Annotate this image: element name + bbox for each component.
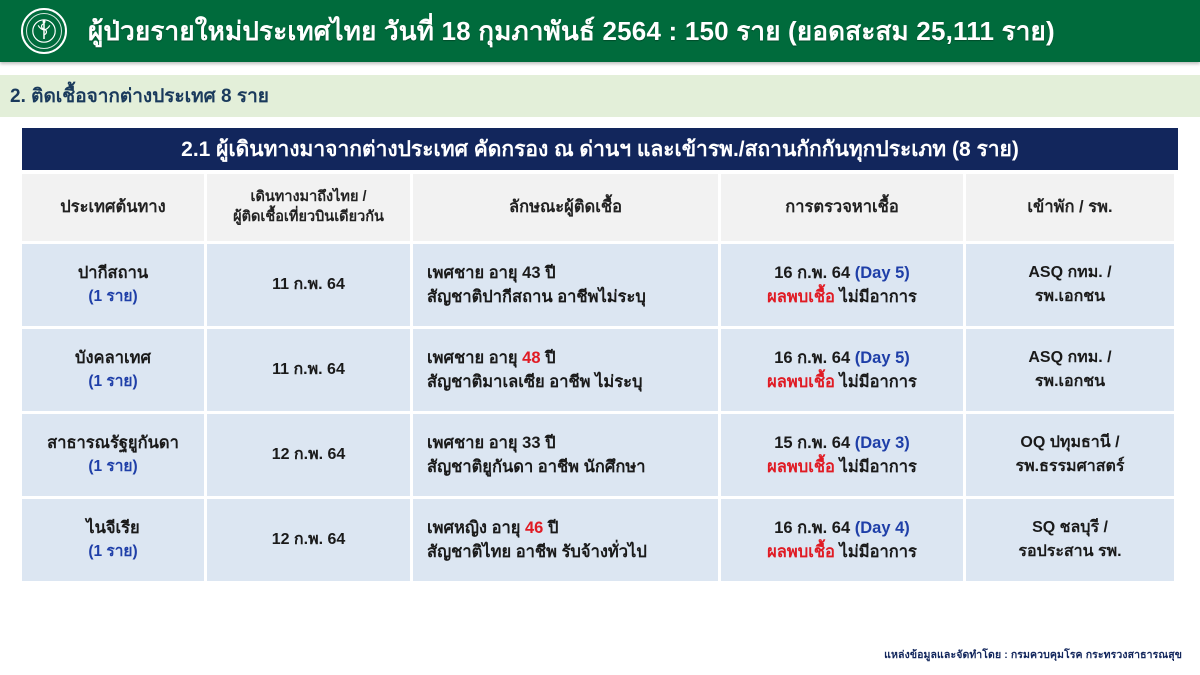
profile-age-unit: ปี bbox=[541, 434, 556, 452]
profile-age: 33 bbox=[522, 434, 540, 452]
profile-age: 43 bbox=[522, 264, 540, 282]
profile-nationality-occupation: สัญชาติยูกันดา อาชีพ นักศึกษา bbox=[427, 455, 646, 479]
test-result-line: ผลพบเชื้อ ไม่มีอาการ bbox=[767, 370, 917, 394]
page-header: ผู้ป่วยรายใหม่ประเทศไทย วันที่ 18 กุมภาพ… bbox=[0, 0, 1200, 62]
cell-testing: 16 ก.พ. 64 (Day 4)ผลพบเชื้อ ไม่มีอาการ bbox=[721, 499, 963, 581]
accommodation-line1: ASQ กทม. / bbox=[1028, 261, 1111, 285]
cell-accommodation: OQ ปทุมธานี /รพ.ธรรมศาสตร์ bbox=[966, 414, 1174, 496]
profile-age-unit: ปี bbox=[543, 519, 558, 537]
test-date-line: 15 ก.พ. 64 (Day 3) bbox=[774, 431, 910, 455]
profile-demographics: เพศชาย อายุ 48 ปี bbox=[427, 346, 556, 370]
test-date: 16 ก.พ. 64 bbox=[774, 264, 855, 282]
cell-arrival-date: 12 ก.พ. 64 bbox=[207, 414, 410, 496]
country-name: สาธารณรัฐยูกันดา bbox=[47, 431, 179, 455]
test-result-line: ผลพบเชื้อ ไม่มีอาการ bbox=[767, 285, 917, 309]
test-result-badge: ผลพบเชื้อ bbox=[767, 543, 835, 561]
ministry-emblem-icon bbox=[21, 8, 67, 54]
accommodation-line2: รพ.เอกชน bbox=[1035, 285, 1105, 309]
test-date-line: 16 ก.พ. 64 (Day 5) bbox=[774, 261, 910, 285]
column-header-arrival-date: เดินทางมาถึงไทย / ผู้ติดเชื้อเที่ยวบินเด… bbox=[207, 174, 410, 241]
country-name: ไนจีเรีย bbox=[86, 516, 139, 540]
table-row: ไนจีเรีย(1 ราย)12 ก.พ. 64เพศหญิง อายุ 46… bbox=[22, 499, 1178, 581]
accommodation-line2: รพ.เอกชน bbox=[1035, 370, 1105, 394]
profile-sex-prefix: เพศชาย อายุ bbox=[427, 349, 522, 367]
cases-table: ประเทศต้นทาง เดินทางมาถึงไทย / ผู้ติดเชื… bbox=[22, 174, 1178, 584]
test-day-number: (Day 3) bbox=[855, 434, 910, 452]
profile-age-unit: ปี bbox=[541, 264, 556, 282]
cell-case-profile: เพศชาย อายุ 33 ปีสัญชาติยูกันดา อาชีพ นั… bbox=[413, 414, 718, 496]
subtitle-bar: 2. ติดเชื้อจากต่างประเทศ 8 ราย bbox=[0, 75, 1200, 117]
section-header-text: 2.1 ผู้เดินทางมาจากต่างประเทศ คัดกรอง ณ … bbox=[181, 133, 1019, 166]
arrival-date: 11 ก.พ. 64 bbox=[272, 273, 345, 297]
accommodation-line2: รอประสาน รพ. bbox=[1018, 540, 1121, 564]
column-header-origin-country: ประเทศต้นทาง bbox=[22, 174, 204, 241]
cell-origin-country: ไนจีเรีย(1 ราย) bbox=[22, 499, 204, 581]
profile-age: 46 bbox=[525, 519, 543, 537]
case-count: (1 ราย) bbox=[88, 371, 137, 394]
subtitle-text: 2. ติดเชื้อจากต่างประเทศ 8 ราย bbox=[10, 81, 269, 111]
profile-nationality-occupation: สัญชาติปากีสถาน อาชีพไม่ระบุ bbox=[427, 285, 646, 309]
cell-arrival-date: 12 ก.พ. 64 bbox=[207, 499, 410, 581]
profile-sex-prefix: เพศชาย อายุ bbox=[427, 434, 522, 452]
test-day-number: (Day 5) bbox=[855, 349, 910, 367]
column-header-accommodation: เข้าพัก / รพ. bbox=[966, 174, 1174, 241]
arrival-date: 11 ก.พ. 64 bbox=[272, 358, 345, 382]
test-symptom-status: ไม่มีอาการ bbox=[835, 543, 917, 561]
test-result-badge: ผลพบเชื้อ bbox=[767, 288, 835, 306]
table-body: ปากีสถาน(1 ราย)11 ก.พ. 64เพศชาย อายุ 43 … bbox=[22, 244, 1178, 581]
profile-nationality-occupation: สัญชาติมาเลเซีย อาชีพ ไม่ระบุ bbox=[427, 370, 643, 394]
cell-arrival-date: 11 ก.พ. 64 bbox=[207, 244, 410, 326]
cell-accommodation: ASQ กทม. /รพ.เอกชน bbox=[966, 244, 1174, 326]
profile-demographics: เพศหญิง อายุ 46 ปี bbox=[427, 516, 558, 540]
cell-case-profile: เพศชาย อายุ 43 ปีสัญชาติปากีสถาน อาชีพไม… bbox=[413, 244, 718, 326]
test-date: 15 ก.พ. 64 bbox=[774, 434, 855, 452]
test-symptom-status: ไม่มีอาการ bbox=[835, 458, 917, 476]
case-count: (1 ราย) bbox=[88, 456, 137, 479]
test-result-badge: ผลพบเชื้อ bbox=[767, 458, 835, 476]
table-row: ปากีสถาน(1 ราย)11 ก.พ. 64เพศชาย อายุ 43 … bbox=[22, 244, 1178, 326]
accommodation-line1: OQ ปทุมธานี / bbox=[1020, 431, 1119, 455]
column-header-testing: การตรวจหาเชื้อ bbox=[721, 174, 963, 241]
test-result-badge: ผลพบเชื้อ bbox=[767, 373, 835, 391]
accommodation-line1: SQ ชลบุรี / bbox=[1032, 516, 1108, 540]
test-day-number: (Day 5) bbox=[855, 264, 910, 282]
test-day-number: (Day 4) bbox=[855, 519, 910, 537]
case-count: (1 ราย) bbox=[88, 286, 137, 309]
column-header-case-profile: ลักษณะผู้ติดเชื้อ bbox=[413, 174, 718, 241]
cell-testing: 15 ก.พ. 64 (Day 3)ผลพบเชื้อ ไม่มีอาการ bbox=[721, 414, 963, 496]
case-count: (1 ราย) bbox=[88, 541, 137, 564]
cell-testing: 16 ก.พ. 64 (Day 5)ผลพบเชื้อ ไม่มีอาการ bbox=[721, 244, 963, 326]
country-name: บังคลาเทศ bbox=[75, 346, 151, 370]
page-title: ผู้ป่วยรายใหม่ประเทศไทย วันที่ 18 กุมภาพ… bbox=[88, 11, 1055, 52]
cell-arrival-date: 11 ก.พ. 64 bbox=[207, 329, 410, 411]
column-header-arrival-line2: ผู้ติดเชื้อเที่ยวบินเดียวกัน bbox=[233, 208, 384, 227]
logo-container bbox=[0, 8, 88, 54]
cell-case-profile: เพศหญิง อายุ 46 ปีสัญชาติไทย อาชีพ รับจ้… bbox=[413, 499, 718, 581]
cell-accommodation: SQ ชลบุรี /รอประสาน รพ. bbox=[966, 499, 1174, 581]
test-symptom-status: ไม่มีอาการ bbox=[835, 288, 917, 306]
accommodation-line2: รพ.ธรรมศาสตร์ bbox=[1016, 455, 1125, 479]
column-header-arrival-line1: เดินทางมาถึงไทย / bbox=[250, 188, 366, 207]
test-date: 16 ก.พ. 64 bbox=[774, 519, 855, 537]
test-date-line: 16 ก.พ. 64 (Day 5) bbox=[774, 346, 910, 370]
cell-accommodation: ASQ กทม. /รพ.เอกชน bbox=[966, 329, 1174, 411]
table-header-row: ประเทศต้นทาง เดินทางมาถึงไทย / ผู้ติดเชื… bbox=[22, 174, 1178, 241]
accommodation-line1: ASQ กทม. / bbox=[1028, 346, 1111, 370]
test-result-line: ผลพบเชื้อ ไม่มีอาการ bbox=[767, 455, 917, 479]
arrival-date: 12 ก.พ. 64 bbox=[272, 443, 346, 467]
profile-age-unit: ปี bbox=[541, 349, 556, 367]
footer-source-text: แหล่งข้อมูลและจัดทำโดย : กรมควบคุมโรค กร… bbox=[884, 646, 1182, 663]
cell-case-profile: เพศชาย อายุ 48 ปีสัญชาติมาเลเซีย อาชีพ ไ… bbox=[413, 329, 718, 411]
test-date: 16 ก.พ. 64 bbox=[774, 349, 855, 367]
profile-sex-prefix: เพศชาย อายุ bbox=[427, 264, 522, 282]
section-header-bar: 2.1 ผู้เดินทางมาจากต่างประเทศ คัดกรอง ณ … bbox=[22, 128, 1178, 170]
cell-origin-country: บังคลาเทศ(1 ราย) bbox=[22, 329, 204, 411]
test-date-line: 16 ก.พ. 64 (Day 4) bbox=[774, 516, 910, 540]
arrival-date: 12 ก.พ. 64 bbox=[272, 528, 346, 552]
cell-origin-country: สาธารณรัฐยูกันดา(1 ราย) bbox=[22, 414, 204, 496]
profile-demographics: เพศชาย อายุ 33 ปี bbox=[427, 431, 556, 455]
profile-age: 48 bbox=[522, 349, 540, 367]
profile-nationality-occupation: สัญชาติไทย อาชีพ รับจ้างทั่วไป bbox=[427, 540, 647, 564]
test-symptom-status: ไม่มีอาการ bbox=[835, 373, 917, 391]
country-name: ปากีสถาน bbox=[78, 261, 148, 285]
test-result-line: ผลพบเชื้อ ไม่มีอาการ bbox=[767, 540, 917, 564]
profile-demographics: เพศชาย อายุ 43 ปี bbox=[427, 261, 556, 285]
table-row: สาธารณรัฐยูกันดา(1 ราย)12 ก.พ. 64เพศชาย … bbox=[22, 414, 1178, 496]
table-row: บังคลาเทศ(1 ราย)11 ก.พ. 64เพศชาย อายุ 48… bbox=[22, 329, 1178, 411]
cell-origin-country: ปากีสถาน(1 ราย) bbox=[22, 244, 204, 326]
cell-testing: 16 ก.พ. 64 (Day 5)ผลพบเชื้อ ไม่มีอาการ bbox=[721, 329, 963, 411]
profile-sex-prefix: เพศหญิง อายุ bbox=[427, 519, 525, 537]
